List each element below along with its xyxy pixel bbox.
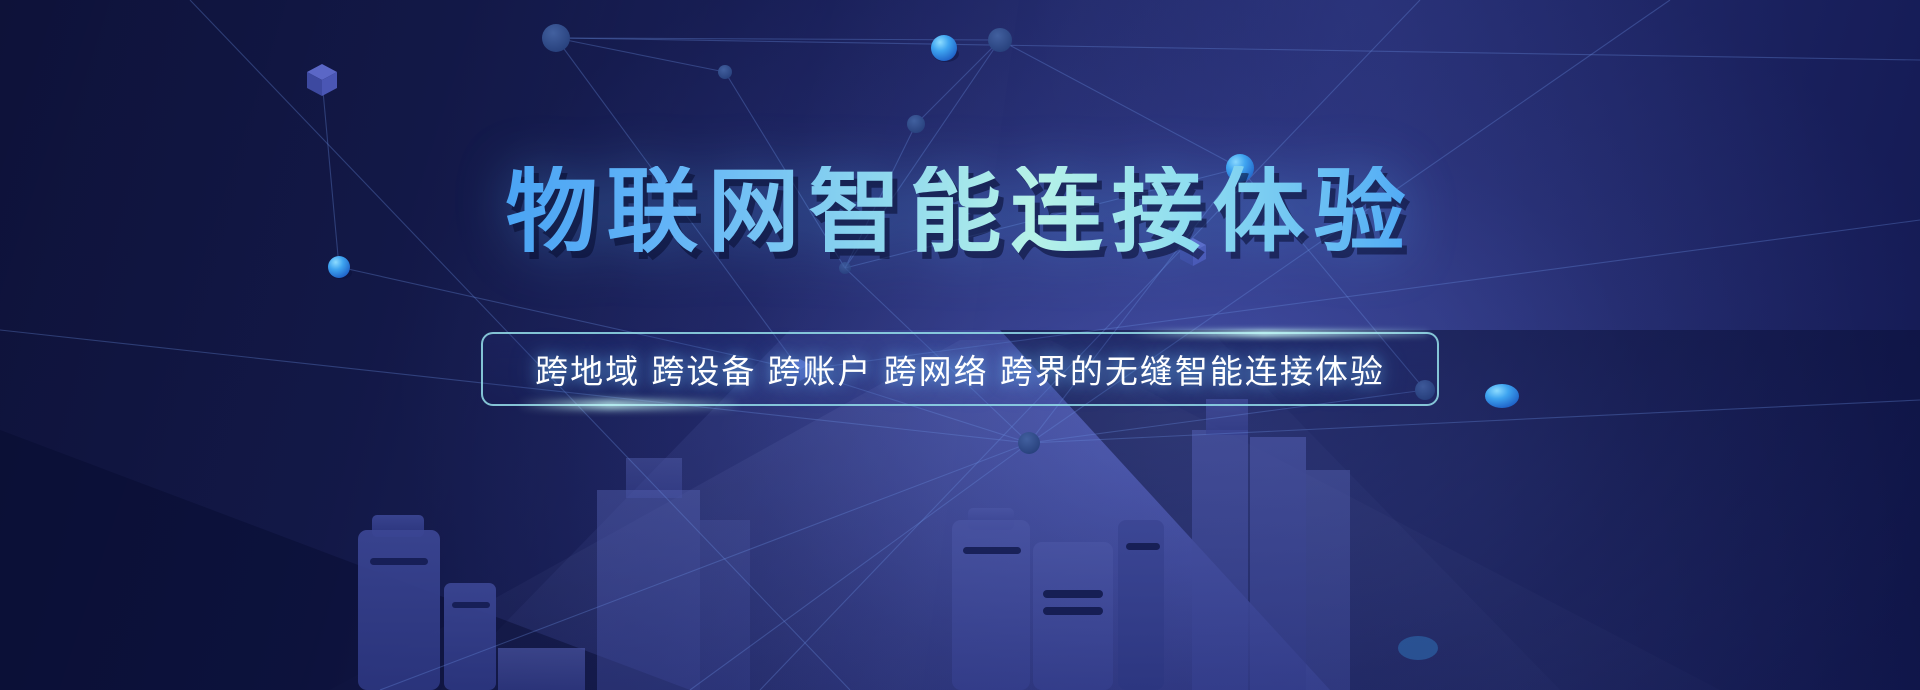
page-title: 物联网智能连接体验	[505, 166, 1414, 258]
subtitle-text: 跨地域 跨设备 跨账户 跨网络 跨界的无缝智能连接体验	[535, 345, 1385, 393]
iot-hero-banner: 物联网智能连接体验 跨地域 跨设备 跨账户 跨网络 跨界的无缝智能连接体验	[0, 0, 1920, 690]
hero-content: 物联网智能连接体验 跨地域 跨设备 跨账户 跨网络 跨界的无缝智能连接体验	[0, 0, 1920, 690]
subtitle-panel: 跨地域 跨设备 跨账户 跨网络 跨界的无缝智能连接体验	[481, 332, 1439, 406]
